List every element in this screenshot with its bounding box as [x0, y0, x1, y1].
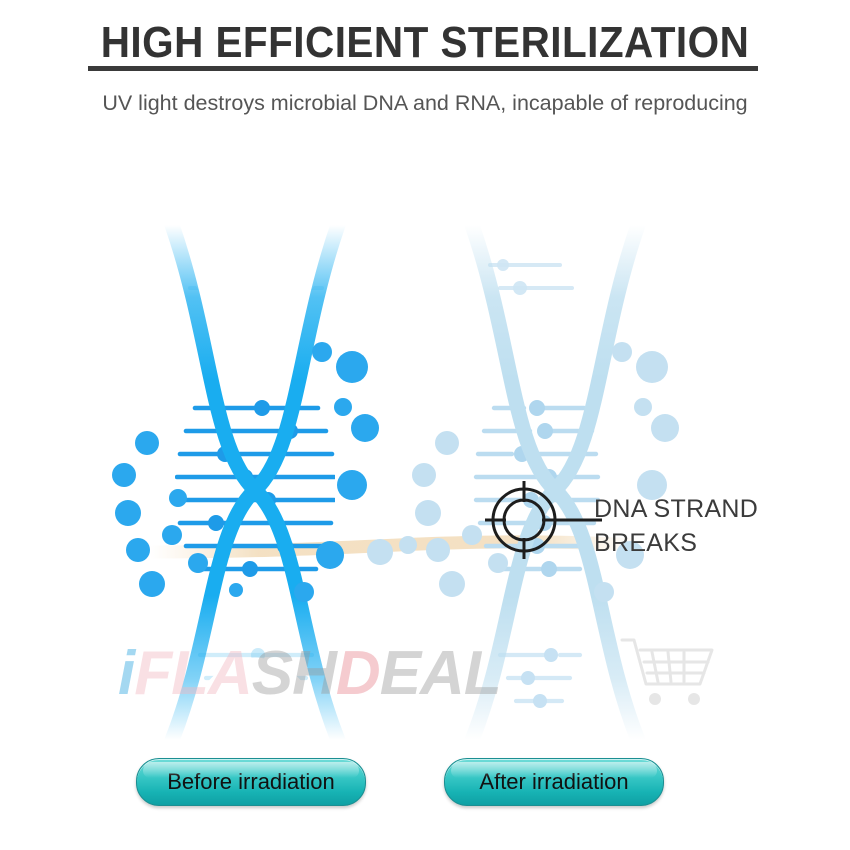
title-underline-rule — [88, 66, 758, 71]
callout-label-line2: BREAKS — [594, 526, 784, 560]
callout-label-line1: DNA STRAND — [594, 492, 784, 526]
before-irradiation-button[interactable]: Before irradiation — [136, 758, 366, 806]
intact-dna-helix — [112, 225, 379, 740]
after-irradiation-button[interactable]: After irradiation — [444, 758, 664, 806]
page-title: HIGH EFFICIENT STERILIZATION — [34, 18, 816, 68]
page-subtitle: UV light destroys microbial DNA and RNA,… — [95, 88, 755, 119]
dna-helix-graphic — [0, 200, 850, 740]
dna-strand-breaks-callout: DNA STRAND BREAKS — [482, 478, 782, 578]
poster-canvas: HIGH EFFICIENT STERILIZATION UV light de… — [0, 0, 850, 850]
dna-illustration: iFLASHDEAL — [0, 200, 850, 740]
callout-label: DNA STRAND BREAKS — [594, 492, 784, 560]
